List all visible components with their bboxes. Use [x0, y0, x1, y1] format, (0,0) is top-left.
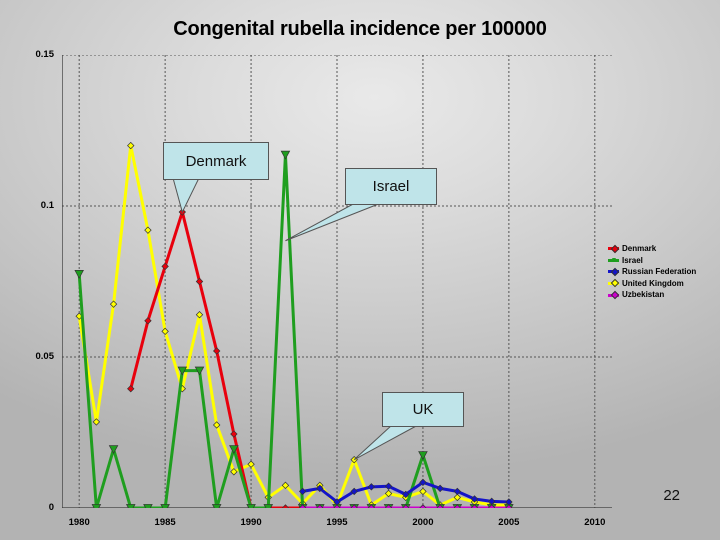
x-axis-tick-label: 1995 [312, 517, 362, 528]
data-point-marker [212, 504, 220, 508]
series-uzbekistan [299, 505, 512, 508]
data-point-marker [419, 452, 427, 460]
legend-label: Denmark [622, 243, 656, 255]
data-point-marker [127, 504, 135, 508]
page-number: 22 [663, 487, 680, 504]
legend-item-denmark[interactable]: Denmark [608, 243, 696, 255]
data-point-marker [92, 504, 100, 508]
callout-denmark: Denmark [163, 142, 269, 180]
legend-item-united-kingdom[interactable]: United Kingdom [608, 278, 696, 290]
legend-marker [610, 244, 618, 252]
data-point-marker [247, 504, 255, 508]
legend-color-swatch [608, 259, 619, 262]
data-point-marker [281, 151, 289, 159]
data-point-marker [196, 278, 202, 284]
data-point-marker [110, 301, 116, 307]
series-denmark [128, 209, 513, 508]
data-point-marker [420, 505, 426, 508]
legend-label: Russian Federation [622, 266, 696, 278]
legend-color-swatch [608, 247, 619, 250]
data-point-marker [368, 484, 374, 490]
legend-item-uzbekistan[interactable]: Uzbekistan [608, 289, 696, 301]
data-point-marker [144, 504, 152, 508]
data-point-marker [264, 504, 272, 508]
data-point-marker [213, 348, 219, 354]
data-point-marker [93, 419, 99, 425]
x-axis-tick-label: 1990 [226, 517, 276, 528]
data-point-marker [109, 446, 117, 454]
data-point-marker [231, 431, 237, 437]
callout-uk: UK [382, 392, 464, 427]
legend-color-swatch [608, 294, 619, 297]
legend-color-swatch [608, 270, 619, 273]
chart-plot-area [62, 55, 612, 508]
data-point-marker [128, 386, 134, 392]
legend-label: United Kingdom [622, 278, 684, 290]
x-axis-tick-label: 2000 [398, 517, 448, 528]
y-axis-tick-label: 0.1 [10, 200, 54, 211]
legend-marker [610, 291, 618, 299]
data-point-marker [282, 505, 288, 508]
chart-svg [62, 55, 612, 508]
chart-title: Congenital rubella incidence per 100000 [0, 18, 720, 41]
data-point-marker [145, 227, 151, 233]
y-axis-tick-label: 0.05 [10, 351, 54, 362]
data-point-marker [196, 312, 202, 318]
legend-color-swatch [608, 282, 619, 285]
x-axis-tick-label: 1985 [140, 517, 190, 528]
legend-label: Uzbekistan [622, 289, 664, 301]
chart-legend: DenmarkIsraelRussian FederationUnited Ki… [608, 243, 696, 301]
series-israel [75, 151, 513, 508]
x-axis-tick-label: 2010 [570, 517, 620, 528]
y-axis-tick-label: 0 [10, 502, 54, 513]
legend-marker [610, 279, 618, 287]
callout-israel: Israel [345, 168, 437, 205]
legend-item-israel[interactable]: Israel [608, 255, 696, 267]
x-axis-tick-label: 1980 [54, 517, 104, 528]
y-axis-tick-label: 0.15 [10, 49, 54, 60]
x-axis-tick-label: 2005 [484, 517, 534, 528]
slide-canvas: Congenital rubella incidence per 100000 … [0, 0, 720, 540]
legend-item-russian-federation[interactable]: Russian Federation [608, 266, 696, 278]
legend-marker [612, 258, 616, 262]
data-point-marker [161, 504, 169, 508]
series-russian-federation [299, 479, 512, 505]
legend-marker [610, 268, 618, 276]
data-point-marker [75, 270, 83, 278]
legend-label: Israel [622, 255, 643, 267]
chart-gridlines [62, 55, 612, 508]
data-point-marker [128, 142, 134, 148]
